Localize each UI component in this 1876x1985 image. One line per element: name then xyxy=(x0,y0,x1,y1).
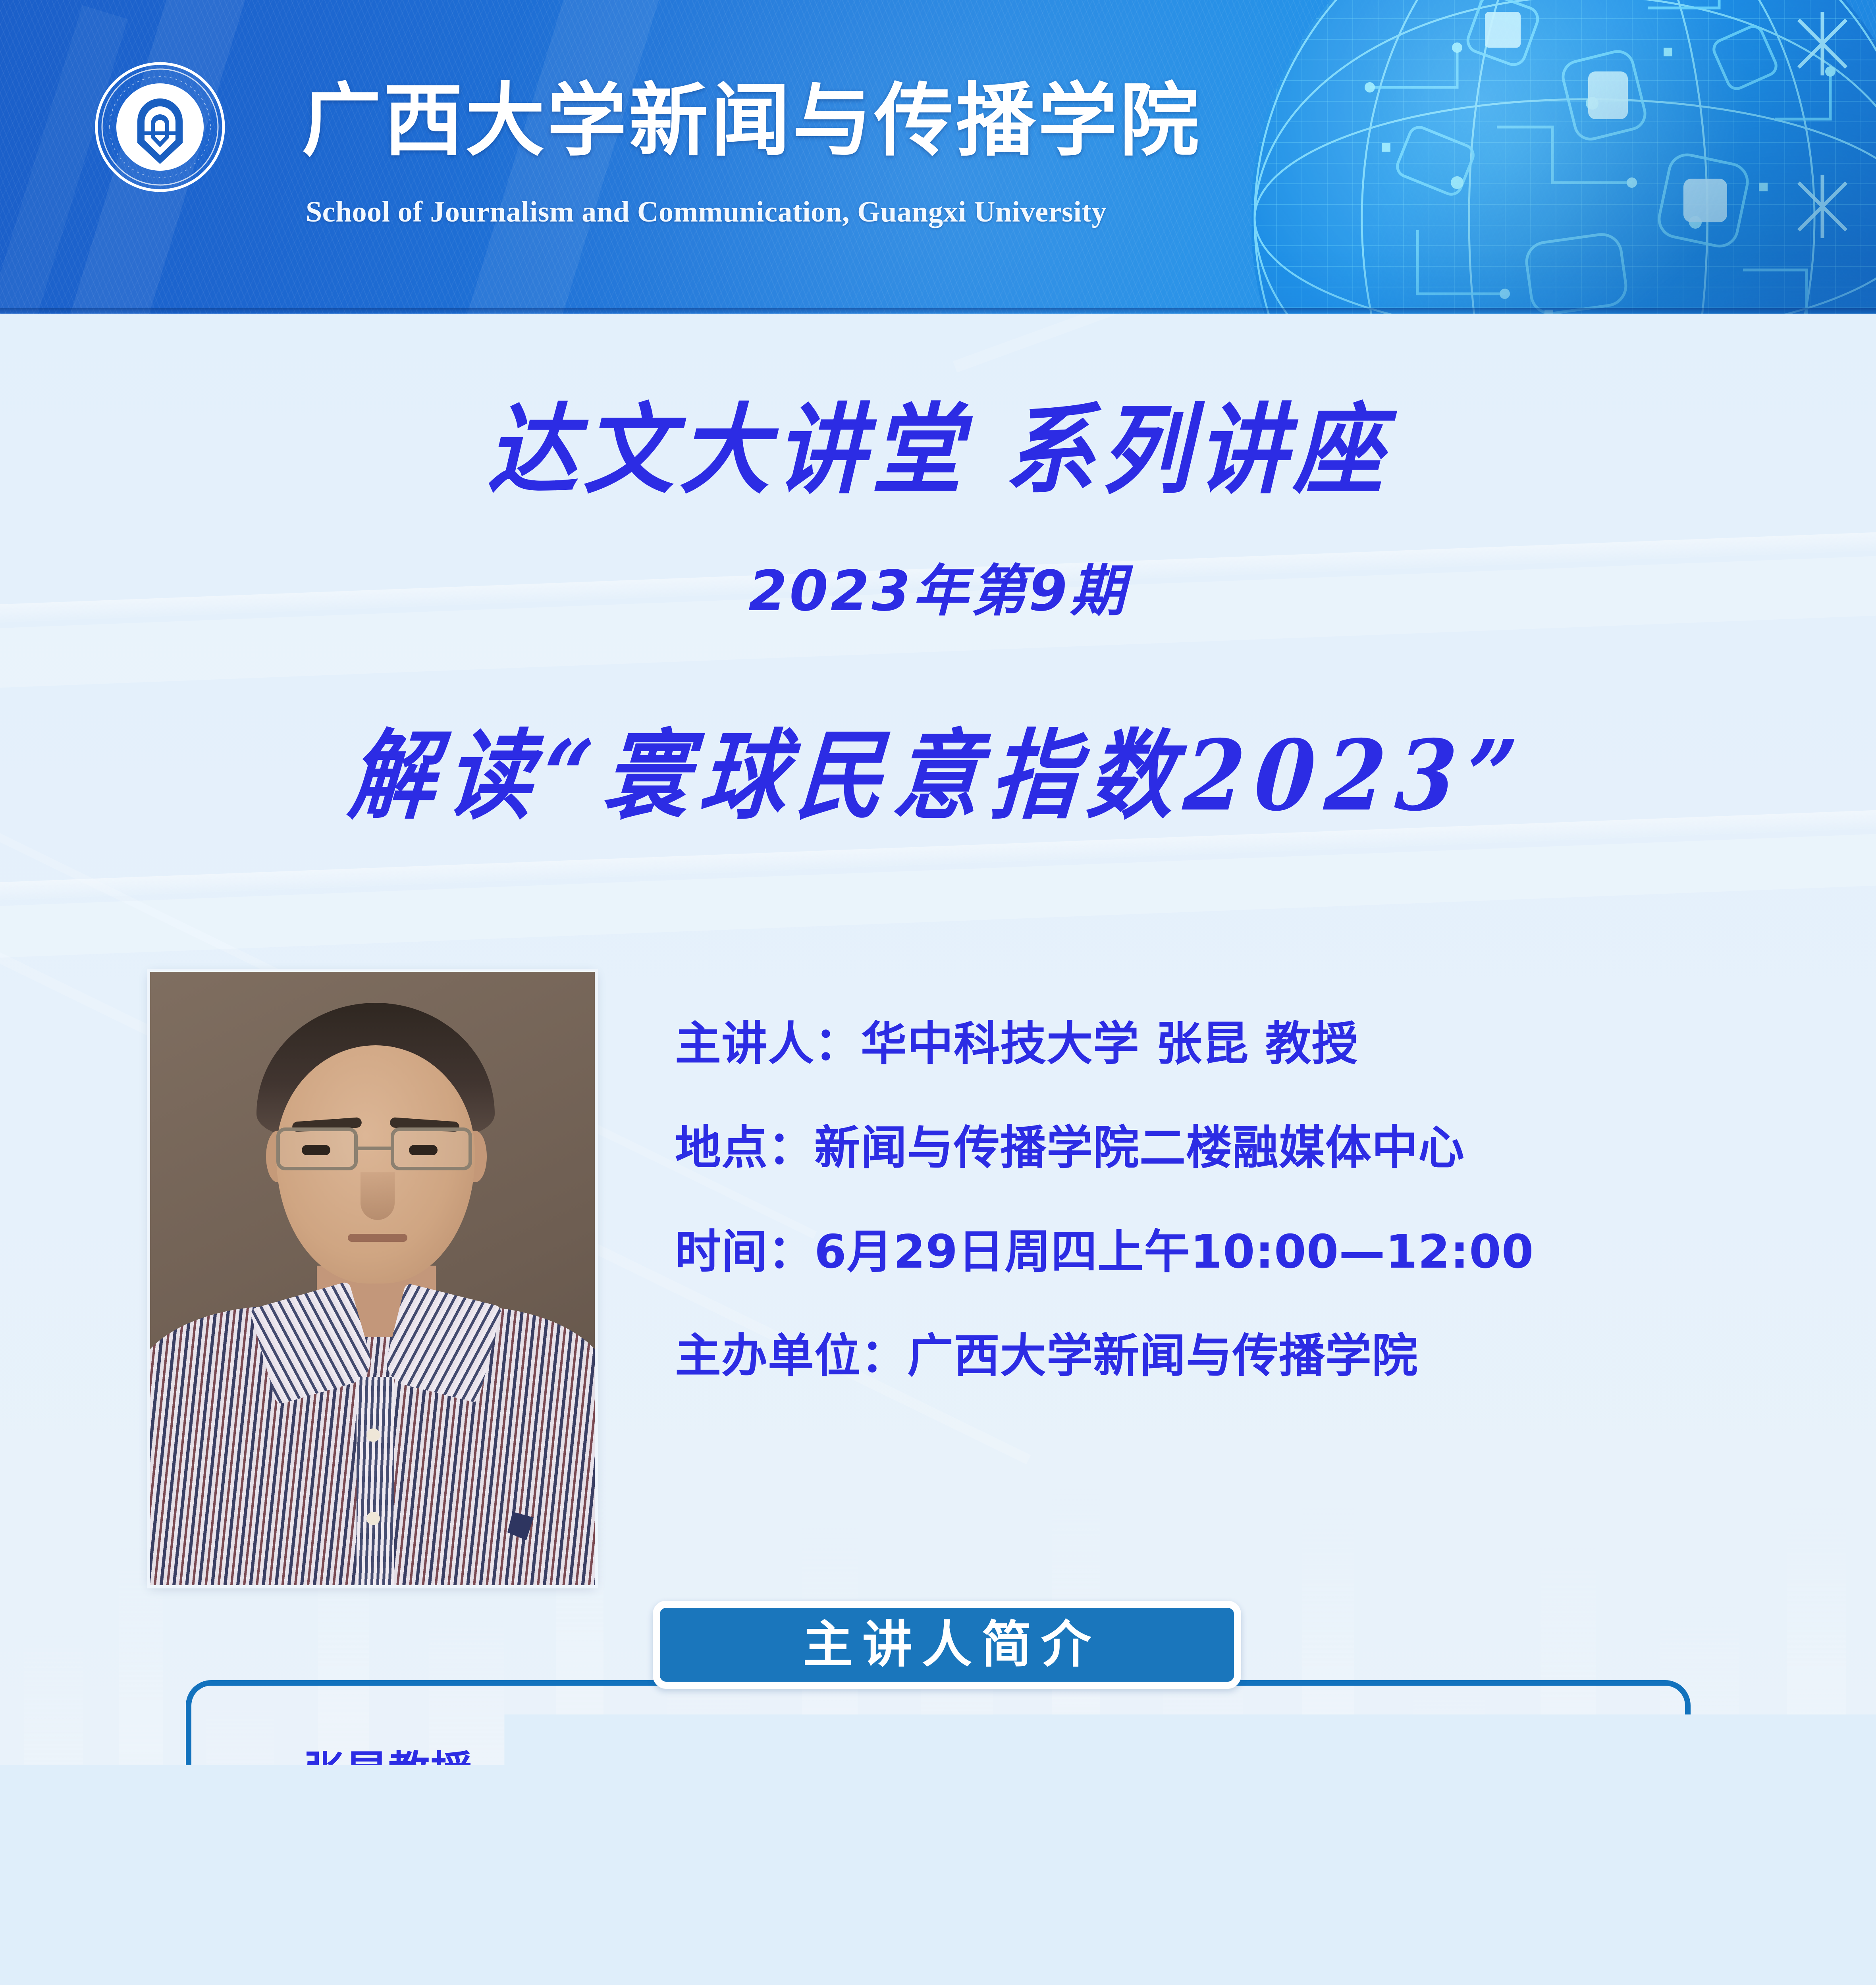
globe-fade-mask xyxy=(1251,0,1876,314)
lecture-series-title: 达文大讲堂 系列讲座 xyxy=(0,401,1876,499)
lecture-topic-title: 解读“寰球民意指数2023” xyxy=(0,727,1876,824)
speaker-bio-badge-label: 主讲人简介 xyxy=(793,1620,1101,1670)
info-organizer: 主办单位：广西大学新闻与传播学院 xyxy=(675,1333,1826,1379)
info-speaker: 主讲人：华中科技大学 张昆 教授 xyxy=(675,1021,1826,1067)
header-title-english: School of Journalism and Communication, … xyxy=(306,195,1107,229)
guangxi-university-journalism-emblem-icon xyxy=(94,62,226,193)
header-bottom-edge xyxy=(0,308,1876,314)
speaker-bio-badge: 主讲人简介 xyxy=(653,1601,1241,1689)
info-location: 地点：新闻与传播学院二楼融媒体中心 xyxy=(675,1125,1826,1171)
page-header: 广西大学新闻与传播学院 School of Journalism and Com… xyxy=(0,0,1876,314)
speaker-bio-text: 张昆教授，华中科技大学学术委员会副主任、大数据与国家传播战略教育部哲学社会科学实… xyxy=(221,1740,1662,1985)
info-time: 时间：6月29日周四上午10:00—12:00 xyxy=(675,1229,1826,1275)
header-title-chinese: 广西大学新闻与传播学院 xyxy=(302,81,1201,161)
poster-root: 广西大学新闻与传播学院 School of Journalism and Com… xyxy=(0,0,1876,1985)
speaker-bio-paragraph: 张昆教授，华中科技大学学术委员会副主任、大数据与国家传播战略教育部哲学社会科学实… xyxy=(221,1740,1662,1985)
lecture-issue-number: 2023年第9期 xyxy=(0,564,1876,619)
lecture-info-block: 主讲人：华中科技大学 张昆 教授 地点：新闻与传播学院二楼融媒体中心 时间：6月… xyxy=(675,1021,1826,1437)
speaker-portrait-photo xyxy=(150,972,595,1585)
